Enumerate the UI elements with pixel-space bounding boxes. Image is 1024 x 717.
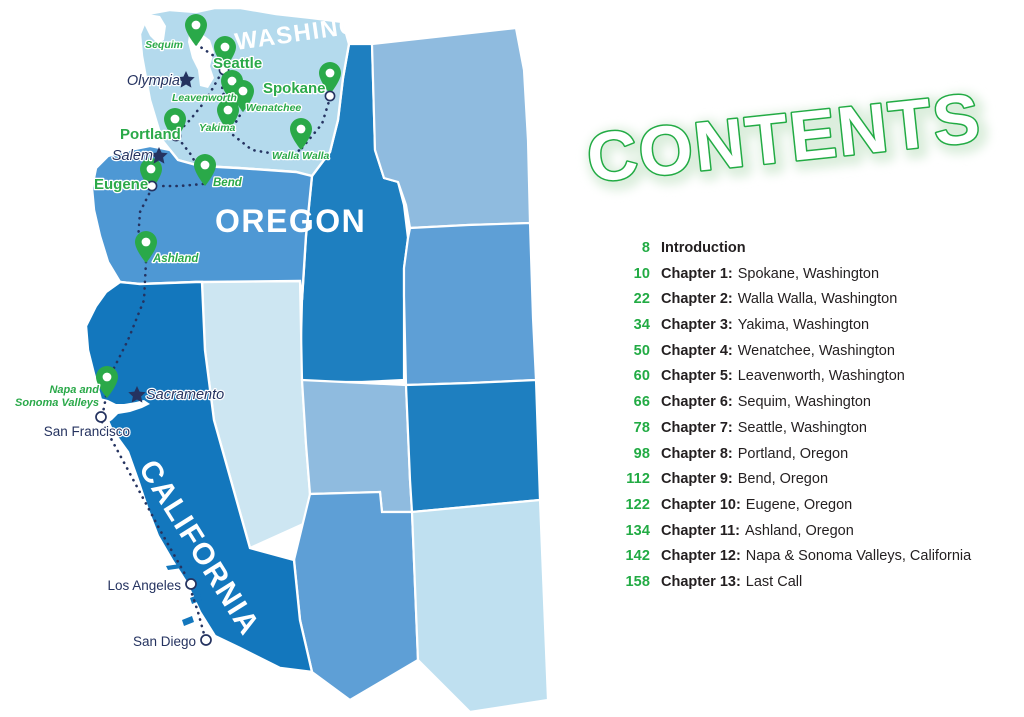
toc-page-number: 60	[610, 368, 650, 384]
toc-chapter-subtitle: Wenatchee, Washington	[738, 343, 895, 359]
label-sacramento: Sacramento	[146, 387, 224, 403]
toc-row[interactable]: 158 Chapter 13: Last Call	[610, 574, 1020, 600]
toc-row[interactable]: 50 Chapter 4: Wenatchee, Washington	[610, 343, 1020, 369]
state-label-oregon: OREGON	[215, 203, 366, 239]
toc-chapter-label: Introduction	[661, 240, 746, 256]
label-walla-walla: Walla Walla	[272, 150, 330, 162]
toc-row[interactable]: 60 Chapter 5: Leavenworth, Washington	[610, 368, 1020, 394]
toc-chapter-subtitle: Napa & Sonoma Valleys, California	[746, 548, 971, 564]
toc-page-number: 50	[610, 343, 650, 359]
toc-chapter-label: Chapter 8:	[661, 446, 733, 462]
toc-chapter-subtitle: Leavenworth, Washington	[738, 368, 905, 384]
toc-row[interactable]: 122 Chapter 10: Eugene, Oregon	[610, 497, 1020, 523]
toc-page-number: 158	[610, 574, 650, 590]
toc-chapter-label: Chapter 9:	[661, 471, 733, 487]
label-seattle: Seattle	[213, 55, 262, 72]
toc-chapter-label: Chapter 7:	[661, 420, 733, 436]
label-spokane: Spokane	[263, 80, 326, 97]
toc-row[interactable]: 66 Chapter 6: Sequim, Washington	[610, 394, 1020, 420]
dot-san-francisco	[96, 412, 106, 422]
toc-chapter-subtitle: Sequim, Washington	[738, 394, 871, 410]
label-bend: Bend	[213, 177, 243, 189]
toc-row[interactable]: 142 Chapter 12: Napa & Sonoma Valleys, C…	[610, 548, 1020, 574]
toc-chapter-label: Chapter 6:	[661, 394, 733, 410]
toc-chapter-label: Chapter 4:	[661, 343, 733, 359]
table-of-contents-list: 8 Introduction 10 Chapter 1: Spokane, Wa…	[610, 240, 1020, 600]
toc-chapter-subtitle: Last Call	[746, 574, 802, 590]
state-wyoming	[404, 223, 536, 385]
toc-page-number: 22	[610, 291, 650, 307]
label-yakima: Yakima	[199, 122, 236, 134]
toc-page-number: 66	[610, 394, 650, 410]
toc-row[interactable]: 34 Chapter 3: Yakima, Washington	[610, 317, 1020, 343]
label-sequim: Sequim	[145, 39, 183, 51]
toc-row[interactable]: 22 Chapter 2: Walla Walla, Washington	[610, 291, 1020, 317]
toc-page-number: 142	[610, 548, 650, 564]
label-olympia: Olympia	[127, 73, 180, 89]
label-napa-line2: Sonoma Valleys	[15, 397, 99, 409]
state-colorado	[406, 380, 540, 512]
toc-page-number: 10	[610, 266, 650, 282]
label-eugene: Eugene	[94, 176, 148, 193]
toc-chapter-subtitle: Yakima, Washington	[738, 317, 869, 333]
toc-page-number: 8	[610, 240, 650, 256]
toc-chapter-subtitle: Bend, Oregon	[738, 471, 828, 487]
toc-page-number: 34	[610, 317, 650, 333]
label-salem: Salem	[112, 148, 153, 164]
state-arizona	[294, 492, 418, 700]
dot-los-angeles	[186, 579, 196, 589]
label-leavenworth: Leavenworth	[172, 92, 237, 104]
label-los-angeles: Los Angeles	[107, 578, 181, 593]
toc-chapter-label: Chapter 12:	[661, 548, 741, 564]
label-napa-line1: Napa and	[49, 384, 99, 396]
book-spread: WASHINGTON OREGON CALIFORNIA	[0, 0, 1024, 717]
toc-page-number: 78	[610, 420, 650, 436]
toc-chapter-subtitle: Portland, Oregon	[738, 446, 848, 462]
toc-chapter-label: Chapter 3:	[661, 317, 733, 333]
label-san-francisco: San Francisco	[44, 424, 130, 439]
toc-page-number: 98	[610, 446, 650, 462]
toc-chapter-label: Chapter 5:	[661, 368, 733, 384]
label-san-diego: San Diego	[133, 634, 196, 649]
toc-row[interactable]: 112 Chapter 9: Bend, Oregon	[610, 471, 1020, 497]
toc-row[interactable]: 78 Chapter 7: Seattle, Washington	[610, 420, 1020, 446]
state-new-mexico	[412, 500, 548, 712]
label-portland: Portland	[120, 126, 181, 143]
toc-row[interactable]: 8 Introduction	[610, 240, 1020, 266]
toc-chapter-label: Chapter 2:	[661, 291, 733, 307]
toc-chapter-subtitle: Spokane, Washington	[738, 266, 879, 282]
toc-chapter-subtitle: Walla Walla, Washington	[738, 291, 898, 307]
toc-page-number: 112	[610, 471, 650, 487]
route-map: WASHINGTON OREGON CALIFORNIA	[0, 0, 570, 717]
toc-row[interactable]: 10 Chapter 1: Spokane, Washington	[610, 266, 1020, 292]
toc-row[interactable]: 98 Chapter 8: Portland, Oregon	[610, 446, 1020, 472]
map-svg: WASHINGTON OREGON CALIFORNIA	[0, 0, 570, 717]
toc-chapter-label: Chapter 10:	[661, 497, 741, 513]
toc-chapter-subtitle: Ashland, Oregon	[745, 523, 854, 539]
label-wenatchee: Wenatchee	[246, 102, 301, 114]
dot-san-diego	[201, 635, 211, 645]
toc-chapter-label: Chapter 13:	[661, 574, 741, 590]
contents-title: CONTENTS CONTENTS	[588, 108, 1008, 218]
toc-chapter-label: Chapter 11:	[661, 523, 740, 539]
contents-title-svg: CONTENTS CONTENTS	[588, 108, 1008, 218]
toc-page-number: 134	[610, 523, 650, 539]
toc-chapter-subtitle: Eugene, Oregon	[746, 497, 852, 513]
label-ashland: Ashland	[152, 253, 199, 265]
toc-chapter-label: Chapter 1:	[661, 266, 733, 282]
toc-chapter-subtitle: Seattle, Washington	[738, 420, 867, 436]
toc-row[interactable]: 134 Chapter 11: Ashland, Oregon	[610, 523, 1020, 549]
contents-page: CONTENTS CONTENTS 8 Introduction 10 Chap…	[570, 0, 1024, 717]
toc-page-number: 122	[610, 497, 650, 513]
